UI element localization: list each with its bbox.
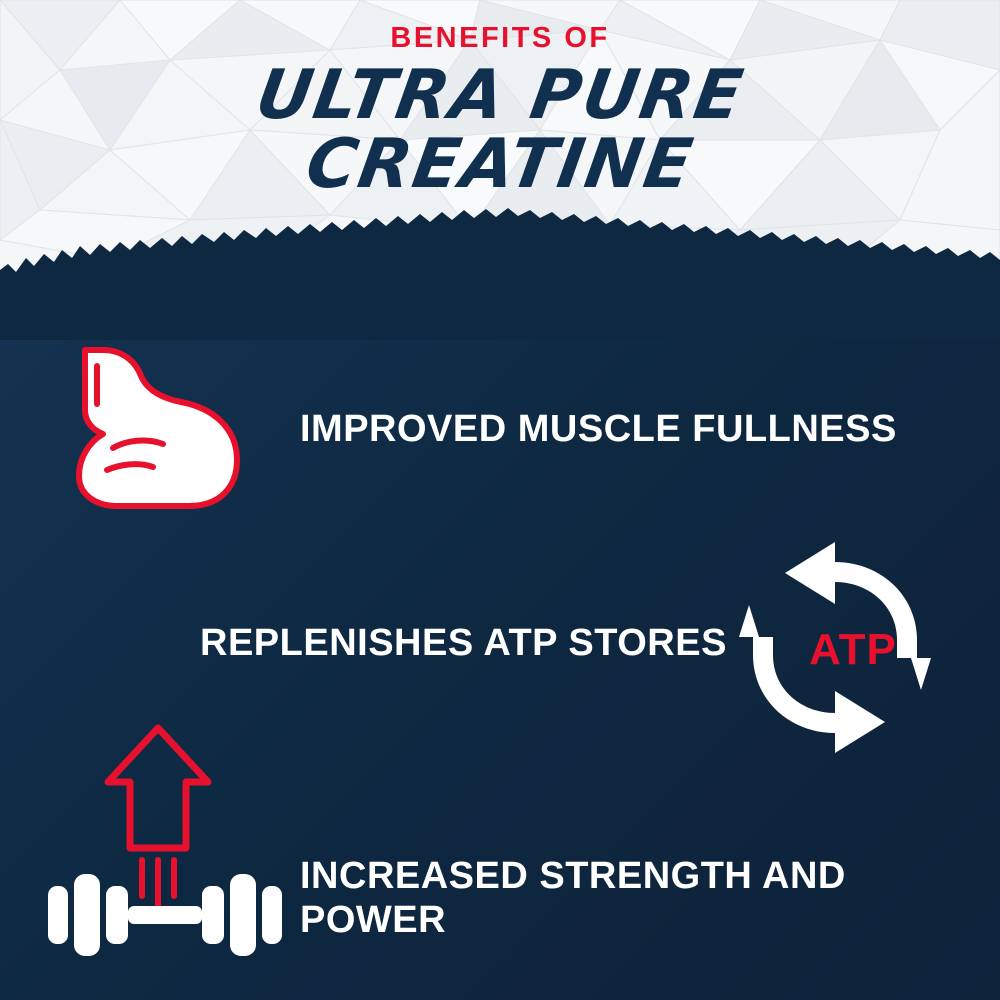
eyebrow-text: BENEFITS OF: [0, 22, 1000, 55]
benefit-label-muscle: IMPROVED MUSCLE FULLNESS: [300, 408, 897, 452]
benefit-row-strength: INCREASED STRENGTH AND POWER: [0, 700, 1000, 990]
benefit-label-atp: REPLENISHES ATP STORES: [200, 622, 727, 666]
header-text-block: BENEFITS OF ULTRA PURE CREATINE: [0, 0, 1000, 198]
benefit-label-strength: INCREASED STRENGTH AND POWER: [300, 855, 900, 942]
atp-icon-label: ATP: [793, 625, 913, 675]
flexed-biceps-icon: [55, 330, 255, 525]
brand-line-1: ULTRA PURE: [0, 63, 1000, 130]
dumbbell-up-arrow-icon: [40, 710, 290, 965]
torn-paper-edge: [0, 200, 1000, 340]
benefit-row-muscle: IMPROVED MUSCLE FULLNESS: [0, 330, 1000, 530]
brand-line-2: CREATINE: [0, 132, 1000, 199]
